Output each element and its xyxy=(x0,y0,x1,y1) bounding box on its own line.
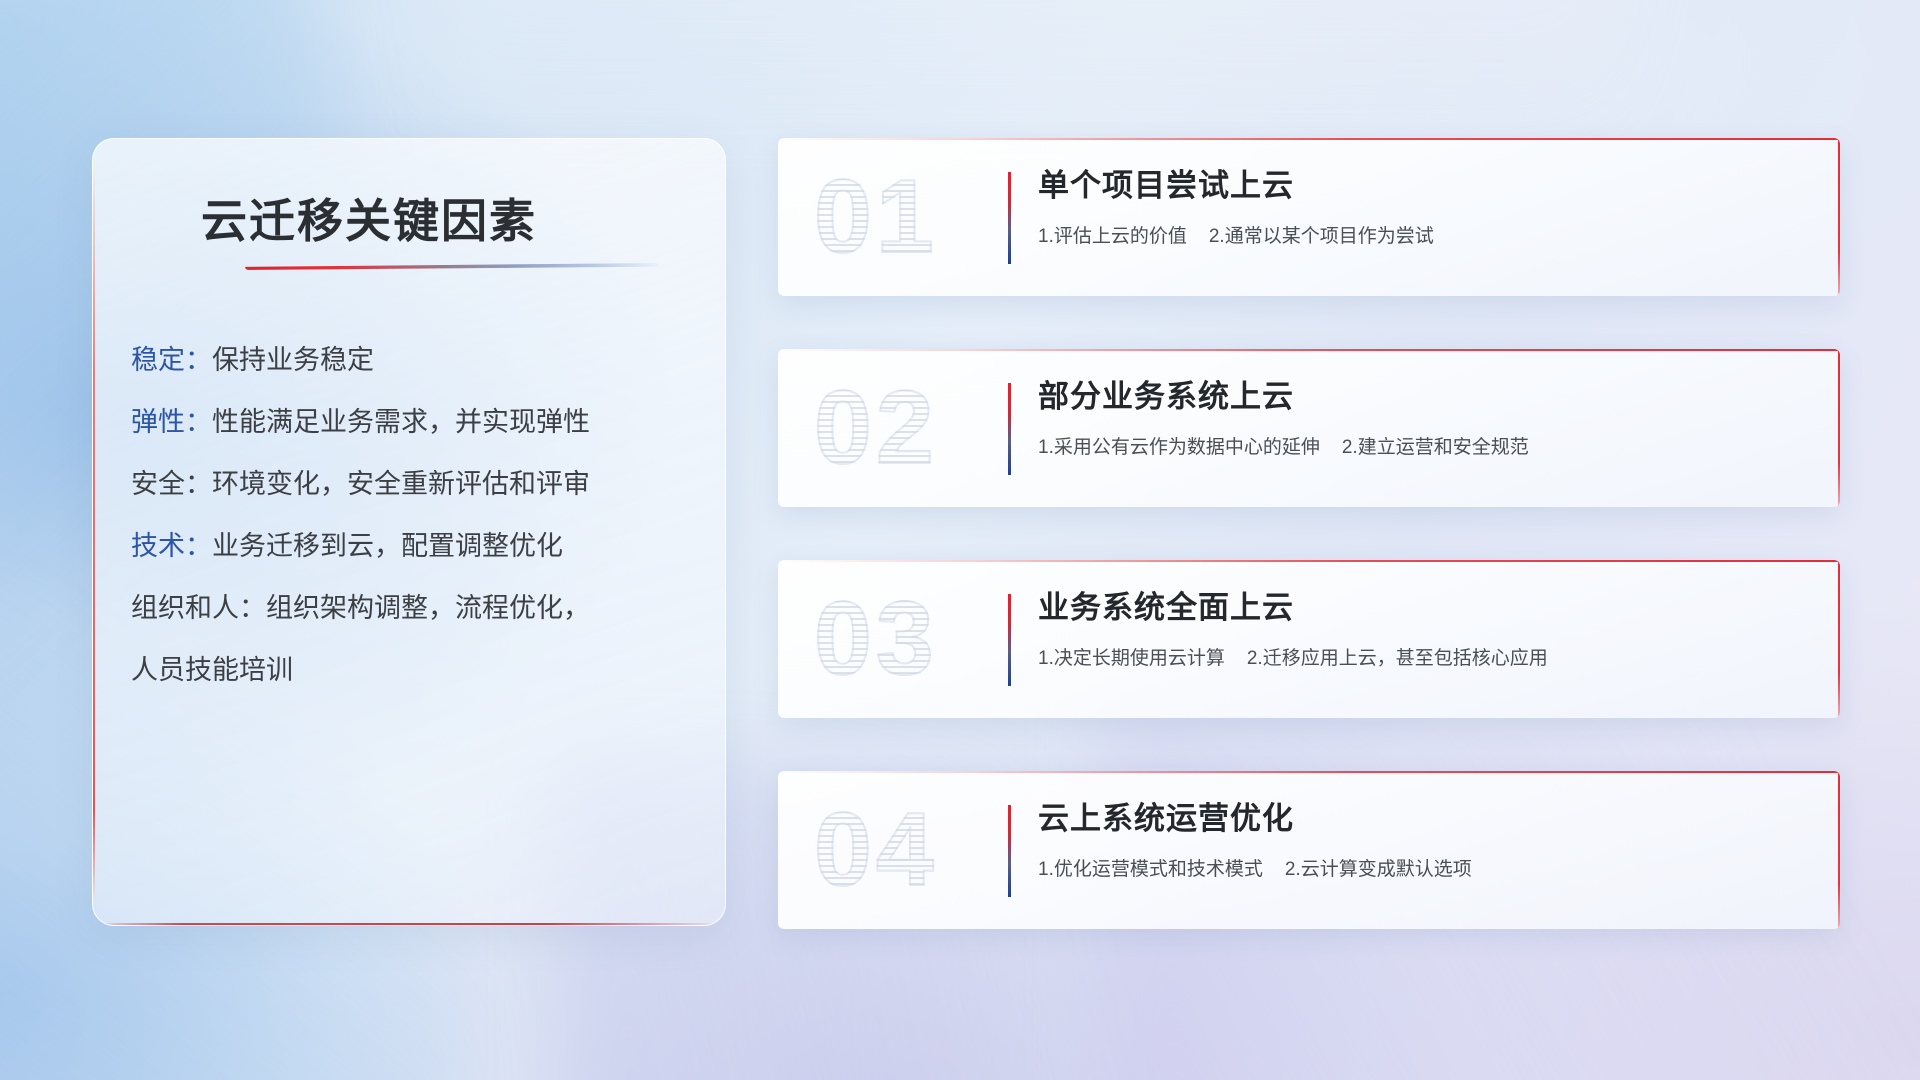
factor-row-security: 安全：环境变化，安全重新评估和评审 xyxy=(131,453,701,515)
factor-list: 稳定：保持业务稳定 弹性：性能满足业务需求，并实现弹性 安全：环境变化，安全重新… xyxy=(131,329,701,701)
stage-subtitle-03: 1.决定长期使用云计算2.迁移应用上云，甚至包括核心应用 xyxy=(1038,646,1814,672)
stage-divider-03 xyxy=(1008,594,1011,686)
stage-title-01: 单个项目尝试上云 xyxy=(1038,164,1814,208)
slide-canvas: 云迁移关键因素 稳定：保持业务稳定 弹性：性能满足业务需求，并实现弹性 安全：环… xyxy=(0,0,1920,1080)
stage-card-04[interactable]: 04 云上系统运营优化 1.优化运营模式和技术模式2.云计算变成默认选项 xyxy=(778,771,1840,929)
factor-desc-organization: 组织架构调整，流程优化， xyxy=(266,593,590,623)
factor-desc-technology: 业务迁移到云，配置调整优化 xyxy=(212,531,563,561)
stage-body-01: 单个项目尝试上云 1.评估上云的价值2.通常以某个项目作为尝试 xyxy=(1038,164,1814,250)
stage-body-02: 部分业务系统上云 1.采用公有云作为数据中心的延伸2.建立运营和安全规范 xyxy=(1038,375,1814,461)
stage-point-04-1: 1.优化运营模式和技术模式 xyxy=(1038,859,1263,880)
stage-number-01: 01 xyxy=(814,148,1004,286)
stage-divider-02 xyxy=(1008,383,1011,475)
stage-subtitle-04: 1.优化运营模式和技术模式2.云计算变成默认选项 xyxy=(1038,857,1814,883)
stage-card-list: 01 单个项目尝试上云 1.评估上云的价值2.通常以某个项目作为尝试 02 部分… xyxy=(778,138,1840,982)
factor-row-organization: 组织和人：组织架构调整，流程优化， xyxy=(131,577,701,639)
stage-number-04: 04 xyxy=(814,781,1004,919)
stage-number-02: 02 xyxy=(814,359,1004,497)
stage-title-03: 业务系统全面上云 xyxy=(1038,586,1814,630)
stage-point-02-2: 2.建立运营和安全规范 xyxy=(1342,437,1529,458)
stage-card-02[interactable]: 02 部分业务系统上云 1.采用公有云作为数据中心的延伸2.建立运营和安全规范 xyxy=(778,349,1840,507)
stage-subtitle-01: 1.评估上云的价值2.通常以某个项目作为尝试 xyxy=(1038,224,1814,250)
factor-row-stability: 稳定：保持业务稳定 xyxy=(131,329,701,391)
factor-desc-stability: 保持业务稳定 xyxy=(212,345,374,375)
stage-title-04: 云上系统运营优化 xyxy=(1038,797,1814,841)
key-factors-panel: 云迁移关键因素 稳定：保持业务稳定 弹性：性能满足业务需求，并实现弹性 安全：环… xyxy=(92,138,726,926)
factor-row-organization-continued: 人员技能培训 xyxy=(131,639,701,701)
stage-card-03[interactable]: 03 业务系统全面上云 1.决定长期使用云计算2.迁移应用上云，甚至包括核心应用 xyxy=(778,560,1840,718)
factor-label-security: 安全： xyxy=(131,469,212,499)
stage-title-02: 部分业务系统上云 xyxy=(1038,375,1814,419)
stage-divider-01 xyxy=(1008,172,1011,264)
factor-label-technology: 技术： xyxy=(131,531,212,561)
stage-subtitle-02: 1.采用公有云作为数据中心的延伸2.建立运营和安全规范 xyxy=(1038,435,1814,461)
stage-number-03: 03 xyxy=(814,570,1004,708)
factor-label-stability: 稳定： xyxy=(131,345,212,375)
stage-point-04-2: 2.云计算变成默认选项 xyxy=(1285,859,1472,880)
factor-label-organization: 组织和人： xyxy=(131,593,266,623)
factor-desc-elasticity: 性能满足业务需求，并实现弹性 xyxy=(212,407,590,437)
factor-desc-security: 环境变化，安全重新评估和评审 xyxy=(212,469,590,499)
stage-point-03-1: 1.决定长期使用云计算 xyxy=(1038,648,1225,669)
page-title: 云迁移关键因素 xyxy=(201,185,537,251)
stage-card-01[interactable]: 01 单个项目尝试上云 1.评估上云的价值2.通常以某个项目作为尝试 xyxy=(778,138,1840,296)
factor-row-technology: 技术：业务迁移到云，配置调整优化 xyxy=(131,515,701,577)
factor-desc-organization-continued: 人员技能培训 xyxy=(131,655,293,685)
factor-row-elasticity: 弹性：性能满足业务需求，并实现弹性 xyxy=(131,391,701,453)
stage-point-03-2: 2.迁移应用上云，甚至包括核心应用 xyxy=(1247,648,1548,669)
stage-point-01-2: 2.通常以某个项目作为尝试 xyxy=(1209,226,1434,247)
stage-body-03: 业务系统全面上云 1.决定长期使用云计算2.迁移应用上云，甚至包括核心应用 xyxy=(1038,586,1814,672)
factor-label-elasticity: 弹性： xyxy=(131,407,212,437)
stage-point-02-1: 1.采用公有云作为数据中心的延伸 xyxy=(1038,437,1320,458)
stage-point-01-1: 1.评估上云的价值 xyxy=(1038,226,1187,247)
stage-body-04: 云上系统运营优化 1.优化运营模式和技术模式2.云计算变成默认选项 xyxy=(1038,797,1814,883)
title-underline-rule xyxy=(245,263,659,270)
stage-divider-04 xyxy=(1008,805,1011,897)
